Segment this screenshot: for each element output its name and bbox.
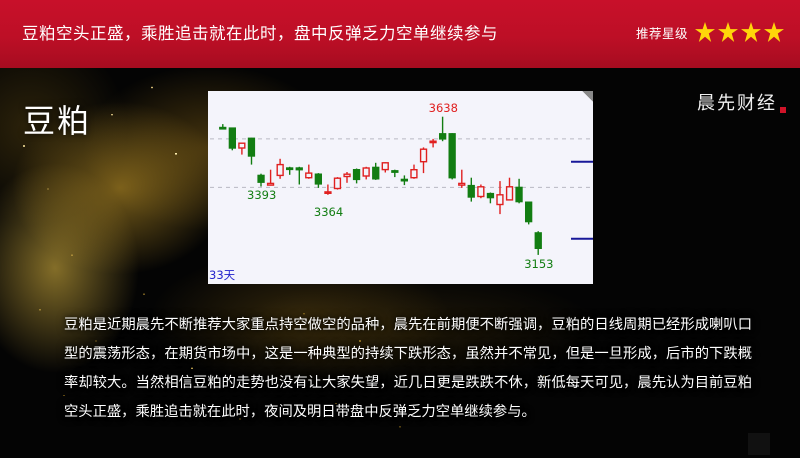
screenshot-root: 豆粕空头正盛，乘胜追击就在此时，盘中反弹乏力空单继续参与 推荐星级 豆粕 晨先财… <box>0 0 800 458</box>
rating-label: 推荐星级 <box>636 23 688 42</box>
price-label-low-left: 3393 <box>247 188 276 202</box>
candle <box>373 163 379 180</box>
price-label-high-peak: 3638 <box>429 101 458 115</box>
candle <box>459 170 465 188</box>
candle <box>296 167 302 185</box>
star-icon <box>741 22 761 42</box>
candle <box>287 167 293 175</box>
candle <box>430 139 436 148</box>
star-rating <box>695 22 784 42</box>
candle <box>488 193 494 204</box>
candle <box>382 162 388 172</box>
candle <box>516 179 522 204</box>
candle <box>229 128 235 151</box>
brand-dot-icon <box>780 107 786 113</box>
candle <box>325 185 331 195</box>
candle <box>363 167 369 180</box>
candle <box>468 178 474 202</box>
candle <box>315 173 321 188</box>
candle <box>354 169 360 184</box>
candle <box>526 202 532 225</box>
star-icon <box>695 22 715 42</box>
article-paragraph: 豆粕是近期晨先不断推荐大家重点持空做空的品种，晨先在前期便不断强调，豆粕的日线周… <box>64 311 752 427</box>
header-bar: 豆粕空头正盛，乘胜追击就在此时，盘中反弹乏力空单继续参与 推荐星级 <box>0 0 800 68</box>
candle <box>249 138 255 165</box>
candle <box>535 231 541 255</box>
price-label-low-right: 3153 <box>524 257 553 271</box>
brand-logo: 晨先财经 <box>697 89 786 115</box>
page-title: 豆粕空头正盛，乘胜追击就在此时，盘中反弹乏力空单继续参与 <box>22 20 498 44</box>
candle <box>449 133 455 179</box>
candle <box>392 170 398 177</box>
candle <box>239 143 245 155</box>
candle <box>507 178 513 201</box>
candle <box>478 185 484 199</box>
candle <box>306 165 312 179</box>
period-note: 33天 <box>209 267 235 283</box>
price-label-low-mid: 3364 <box>314 205 343 219</box>
candlestick-chart[interactable]: 3393 3364 3638 3153 33天 <box>208 91 593 284</box>
product-name: 豆粕 <box>23 96 91 142</box>
star-icon <box>718 22 738 42</box>
candle <box>335 177 341 190</box>
candle <box>497 181 503 214</box>
candle <box>421 147 427 173</box>
brand-name: 晨先财经 <box>697 89 777 115</box>
candle <box>277 159 283 179</box>
candle <box>344 172 350 183</box>
candle <box>258 174 264 187</box>
corner-watermark <box>748 433 770 455</box>
rating-group: 推荐星级 <box>636 22 784 42</box>
star-icon <box>764 22 784 42</box>
candle <box>440 117 446 142</box>
candle <box>401 175 407 185</box>
candle <box>268 170 274 186</box>
page-fold-icon <box>582 91 593 102</box>
candle <box>411 165 417 179</box>
candle <box>220 124 226 129</box>
